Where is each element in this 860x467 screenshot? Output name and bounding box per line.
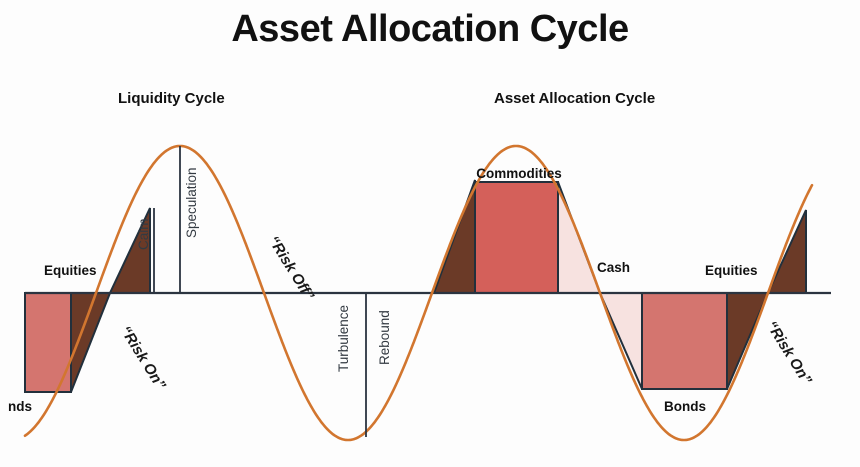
asset-label-equities: Equities — [705, 263, 758, 278]
asset-allocation-cycle-chart: ndsEquitiesCommoditiesCashBondsEquitiesC… — [0, 0, 860, 467]
asset-block-commodities-rect — [475, 182, 558, 293]
chart-canvas: Asset Allocation Cycle Liquidity Cycle A… — [0, 0, 860, 467]
phase-label-speculation: Speculation — [184, 167, 199, 238]
phase-label-calm: Calm — [136, 218, 151, 250]
asset-label-bonds: Bonds — [664, 399, 706, 414]
asset-label-equities: Equities — [44, 263, 97, 278]
asset-block-bonds-rect — [642, 293, 727, 389]
asset-label-cash: Cash — [597, 260, 630, 275]
phase-label-turbulence: Turbulence — [336, 305, 351, 372]
phase-label-rebound: Rebound — [377, 310, 392, 365]
regime-label-2: “Risk On” — [763, 318, 816, 388]
asset-label-commodities: Commodities — [476, 166, 562, 181]
asset-label-bonds: nds — [8, 399, 32, 414]
regime-label-0: “Risk On” — [117, 323, 170, 393]
